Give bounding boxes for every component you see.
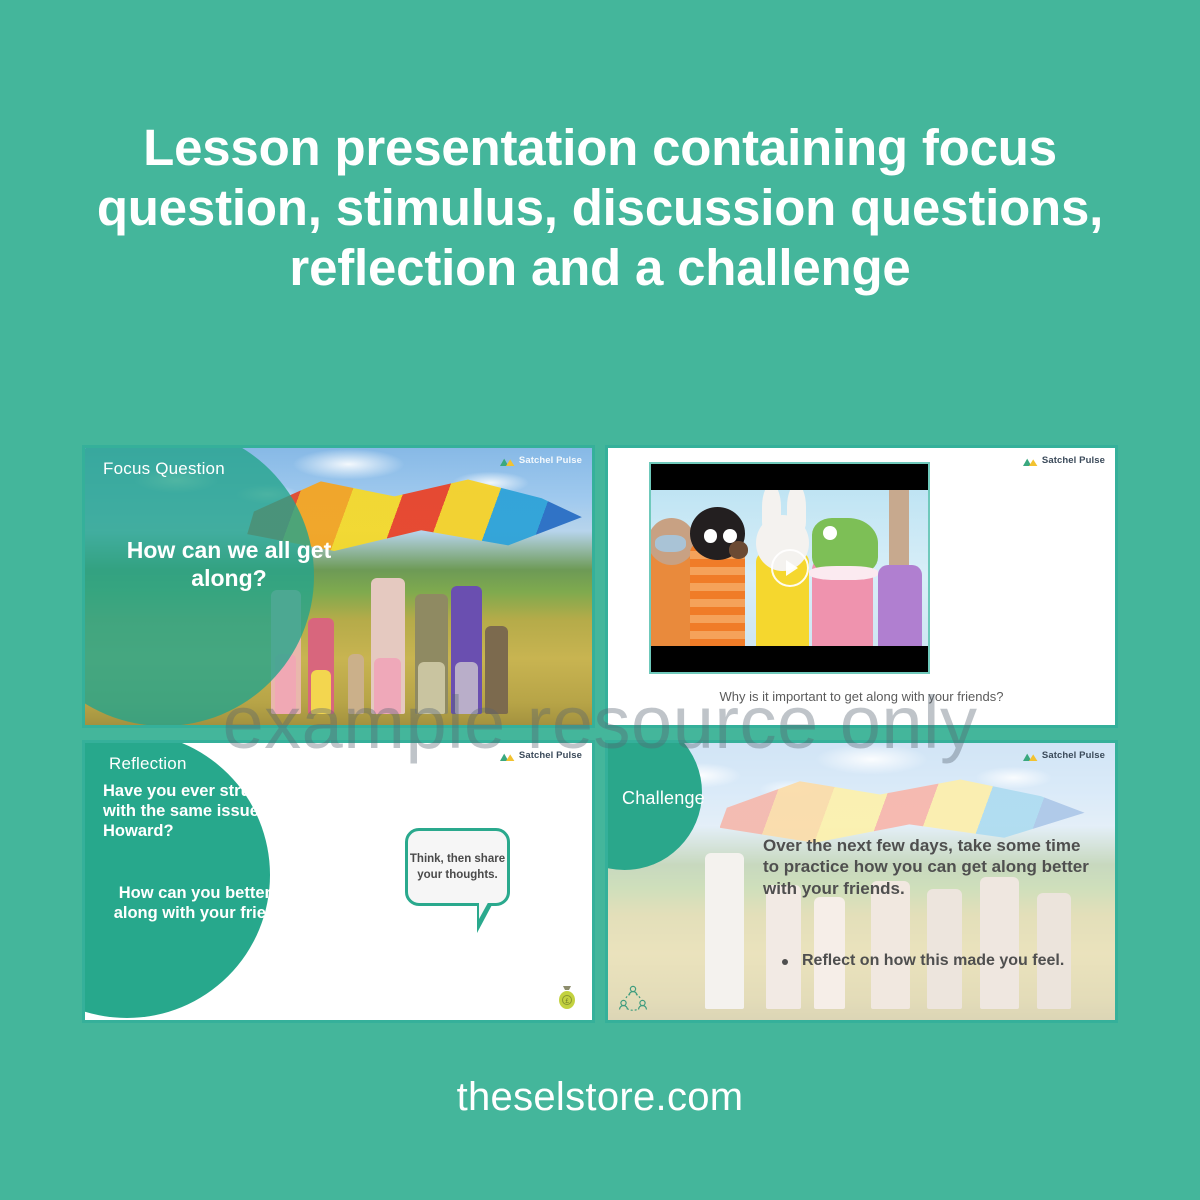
slide1-kicker: Focus Question (103, 459, 225, 479)
slide-challenge[interactable]: Satchel Pulse Challenge Over the next fe… (605, 740, 1118, 1023)
video-still-image (651, 490, 928, 646)
list-item: Reflect on how this made you feel. (780, 951, 1100, 971)
stimulus-video-player[interactable] (649, 462, 930, 674)
logo-text: Satchel Pulse (519, 750, 582, 761)
group-teamwork-icon (618, 984, 648, 1012)
logo-text: Satchel Pulse (1042, 455, 1105, 466)
character-rabbit-ear-left (762, 490, 781, 531)
logo-text: Satchel Pulse (1042, 750, 1105, 761)
speech-bubble-text: Think, then share your thoughts. (408, 851, 507, 883)
satchel-pulse-logo: Satchel Pulse (1023, 455, 1105, 466)
satchel-pulse-logo: Satchel Pulse (500, 750, 582, 761)
money-bag-icon: £ (556, 982, 578, 1010)
mountain-logo-icon (500, 456, 515, 466)
mountain-logo-icon (1023, 751, 1038, 761)
character-extra-body (878, 565, 922, 646)
slide4-kicker: Challenge (622, 788, 705, 809)
slide1-focus-question-text: How can we all get along? (109, 536, 349, 592)
slide-thumbnail-grid: Focus Question How can we all get along?… (82, 445, 1118, 1023)
character-fox-goggles (655, 535, 685, 552)
satchel-pulse-logo: Satchel Pulse (1023, 750, 1105, 761)
think-share-speech-bubble: Think, then share your thoughts. (405, 828, 510, 906)
slide3-question-2: How can you better get along with your f… (107, 883, 312, 923)
satchel-pulse-logo: Satchel Pulse (500, 455, 582, 466)
site-url-footer: theselstore.com (0, 1075, 1200, 1120)
character-bear-muzzle (729, 541, 748, 558)
page-title: Lesson presentation containing focus que… (60, 118, 1140, 299)
slide-reflection[interactable]: Satchel Pulse Reflection Have you ever s… (82, 740, 595, 1023)
logo-text: Satchel Pulse (519, 455, 582, 466)
mountain-logo-icon (500, 751, 515, 761)
play-button-icon[interactable] (771, 549, 809, 587)
slide2-caption: Why is it important to get along with yo… (608, 688, 1115, 706)
slide3-question-1: Have you ever struggles with the same is… (103, 781, 298, 841)
slide4-bullet-list: Reflect on how this made you feel. (780, 951, 1100, 971)
character-hippo-collar (809, 566, 878, 580)
character-hippo-eye (823, 526, 837, 540)
speech-bubble-tail (477, 903, 493, 933)
character-rabbit-ear-right (787, 490, 806, 531)
slide-focus-question[interactable]: Focus Question How can we all get along?… (82, 445, 595, 728)
slide4-body-text: Over the next few days, take some time t… (763, 835, 1093, 899)
slide-stimulus[interactable]: Satchel Pulse (605, 445, 1118, 728)
mountain-logo-icon (1023, 456, 1038, 466)
slide3-kicker: Reflection (109, 754, 187, 774)
character-extra-arm (889, 490, 908, 565)
